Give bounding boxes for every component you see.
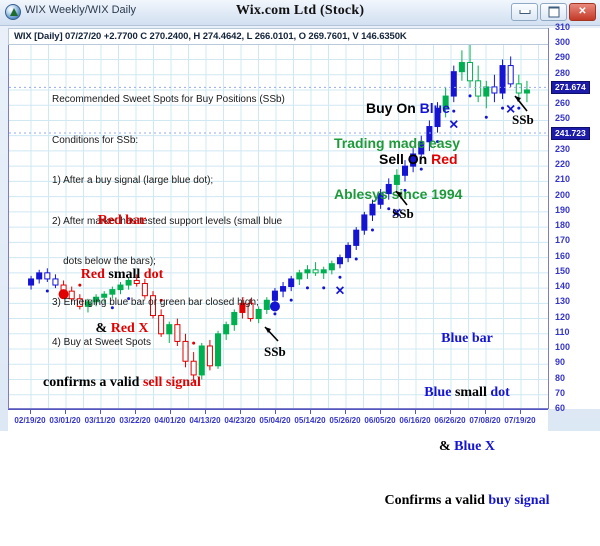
y-axis-tick: 280 [555, 69, 570, 78]
x-axis-tickmark [415, 410, 416, 414]
x-axis-tick: 07/08/20 [469, 416, 500, 425]
x-axis-tickmark [520, 410, 521, 414]
y-axis-tick: 150 [555, 267, 570, 276]
buy-rule-signal: buy signal [488, 493, 549, 508]
x-axis-tickmark [30, 410, 31, 414]
y-axis-tick: 80 [555, 374, 565, 383]
x-axis-tickmark [100, 410, 101, 414]
y-axis-tick-highlighted: 241.723 [551, 127, 590, 140]
window-controls: ✕ [511, 3, 596, 21]
buy-rule-confirms: Confirms a valid [385, 493, 489, 508]
x-axis-tickmark [240, 410, 241, 414]
grid-lines [9, 29, 548, 409]
y-axis-tick: 310 [555, 23, 570, 32]
y-axis-tick: 230 [555, 145, 570, 154]
x-axis-tick: 04/23/20 [224, 416, 255, 425]
y-axis-tick-highlighted: 271.674 [551, 81, 590, 94]
y-axis-tick: 90 [555, 358, 565, 367]
buy-rule-line-4: Confirms a valid buy signal [372, 492, 562, 510]
chart-window: WIX Weekly/WIX Daily Wix.com Ltd (Stock)… [0, 0, 600, 431]
x-axis-tickmark [450, 410, 451, 414]
x-axis-tick: 06/05/20 [364, 416, 395, 425]
minimize-icon[interactable] [511, 3, 538, 21]
x-axis-tick: 02/19/20 [14, 416, 45, 425]
x-axis-tick: 03/11/20 [85, 416, 116, 425]
y-axis-tick: 110 [555, 328, 570, 337]
y-axis-tick: 120 [555, 313, 570, 322]
x-axis-tickmark [170, 410, 171, 414]
x-axis-tick: 07/19/20 [504, 416, 535, 425]
maximize-icon[interactable] [540, 3, 567, 21]
y-axis-tick: 260 [555, 99, 570, 108]
y-axis-tick: 130 [555, 297, 570, 306]
x-axis-tickmark [345, 410, 346, 414]
y-axis-tick: 200 [555, 191, 570, 200]
x-axis-tickmark [275, 410, 276, 414]
y-axis-tick: 290 [555, 53, 570, 62]
y-axis-tick: 180 [555, 221, 570, 230]
x-axis-tick: 06/16/20 [399, 416, 430, 425]
close-icon[interactable]: ✕ [569, 3, 596, 21]
x-axis-tick: 06/26/20 [434, 416, 465, 425]
title-bar: WIX Weekly/WIX Daily Wix.com Ltd (Stock)… [0, 0, 600, 26]
y-axis-tick: 250 [555, 114, 570, 123]
chart-plot-area[interactable] [8, 28, 548, 409]
quote-bar: WIX [Daily] 07/27/20 +2.7700 C 270.2400,… [8, 28, 548, 45]
x-axis-tick: 03/01/20 [49, 416, 80, 425]
page-title: Wix.com Ltd (Stock) [0, 3, 600, 19]
x-axis-tickmark [380, 410, 381, 414]
y-axis-tick: 300 [555, 38, 570, 47]
x-axis-tickmark [485, 410, 486, 414]
buy-rule-amp: & [439, 439, 454, 454]
y-axis-tick: 140 [555, 282, 570, 291]
y-axis-tick: 160 [555, 252, 570, 261]
x-axis-tick: 04/13/20 [189, 416, 220, 425]
x-axis-tickmark [135, 410, 136, 414]
buy-rule-bluex: Blue X [454, 439, 495, 454]
candlestick-canvas [9, 29, 548, 409]
y-axis[interactable]: 310300290280271.674260250241.72323022021… [548, 28, 600, 409]
y-axis-tick: 220 [555, 160, 570, 169]
y-axis-tick: 210 [555, 175, 570, 184]
support-dot-series [46, 94, 520, 344]
quote-bar-text: WIX [Daily] 07/27/20 +2.7700 C 270.2400,… [14, 31, 407, 42]
x-axis-tick: 05/26/20 [329, 416, 360, 425]
buy-rule-line-3: & Blue X [372, 438, 562, 456]
y-axis-tick: 100 [555, 343, 570, 352]
x-axis-tick: 05/04/20 [259, 416, 290, 425]
y-axis-tick: 60 [555, 404, 565, 413]
y-axis-tick: 190 [555, 206, 570, 215]
y-axis-tick: 170 [555, 236, 570, 245]
x-axis-tick: 03/22/20 [119, 416, 150, 425]
x-axis-tick: 04/01/20 [154, 416, 185, 425]
large-signal-dot-series [59, 289, 280, 311]
x-axis-tickmark [310, 410, 311, 414]
x-axis-tickmark [65, 410, 66, 414]
price-marker-lines [9, 87, 548, 133]
y-axis-tick: 70 [555, 389, 565, 398]
x-axis-tickmark [205, 410, 206, 414]
x-axis[interactable]: 02/19/2003/01/2003/11/2003/22/2004/01/20… [8, 409, 548, 431]
x-axis-tick: 05/14/20 [294, 416, 325, 425]
